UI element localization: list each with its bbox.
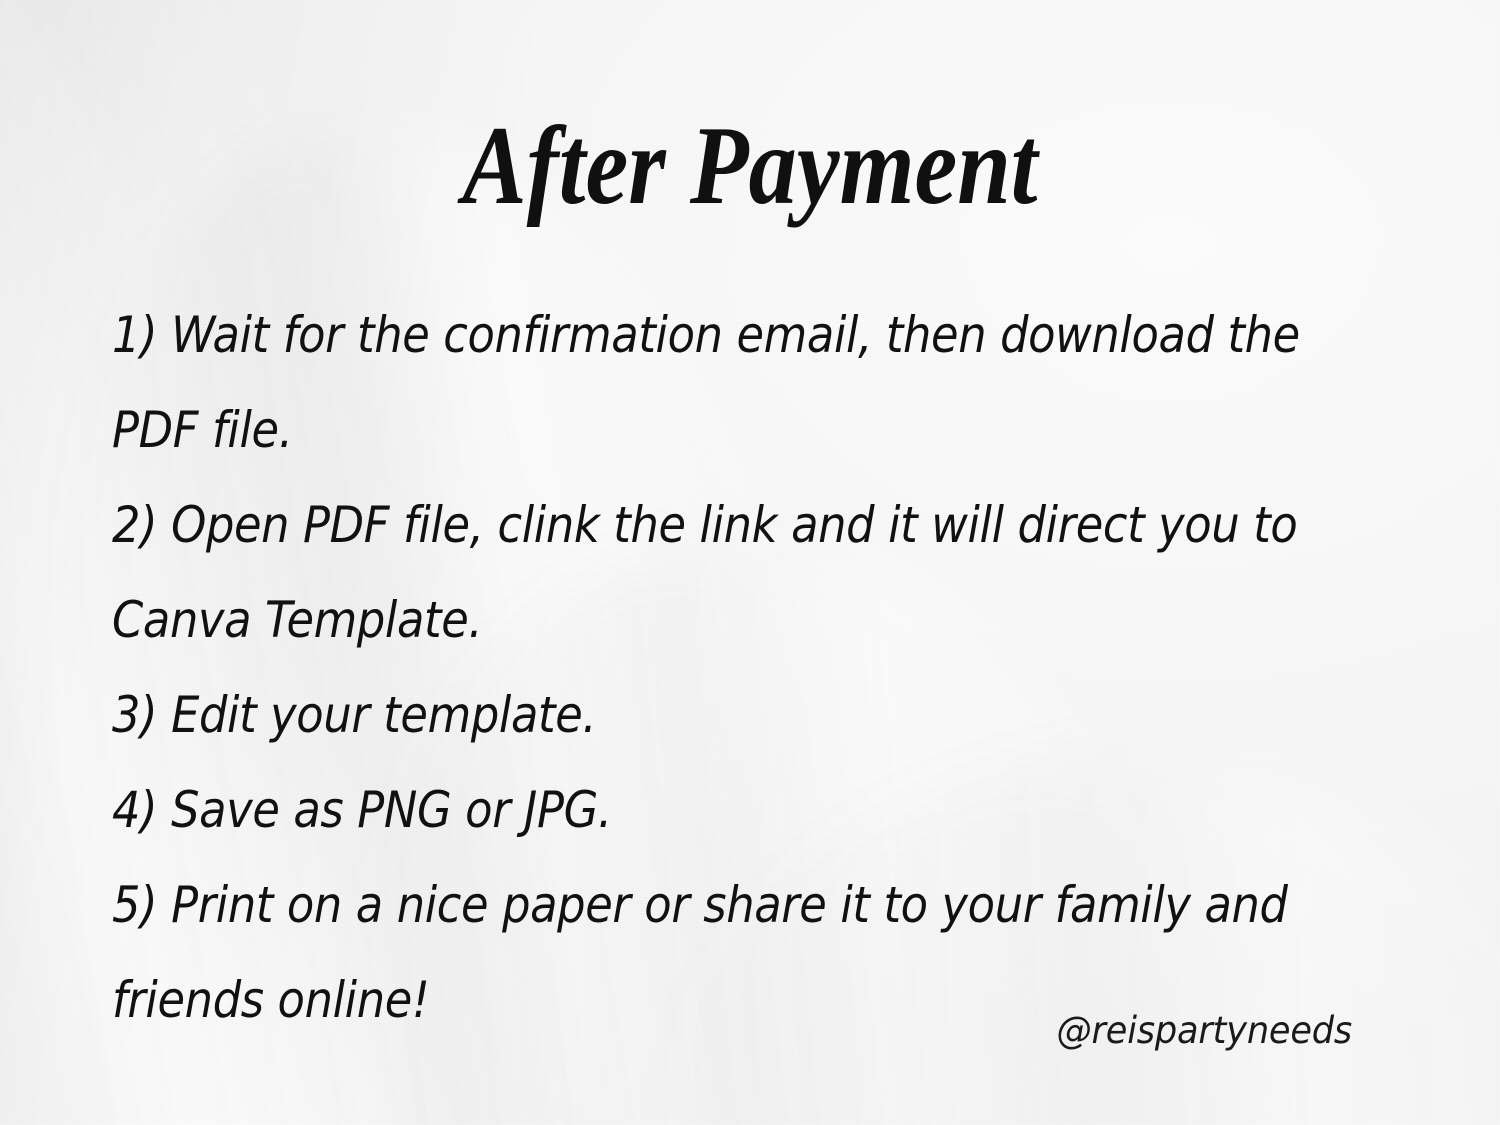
instruction-line: 4) Save as PNG or JPG. (112, 763, 1302, 858)
instruction-line: 3) Edit your template. (112, 668, 1302, 763)
card-content: After Payment 1) Wait for the confirmati… (0, 0, 1500, 1125)
instruction-list: 1) Wait for the confirmation email, then… (112, 288, 1442, 1048)
shop-handle-watermark: @reispartyneeds (1056, 1009, 1352, 1052)
instruction-line: 5) Print on a nice paper or share it to … (112, 858, 1302, 953)
instruction-line: Canva Template. (112, 573, 1302, 668)
instruction-line: PDF file. (112, 383, 1302, 478)
after-payment-card: After Payment 1) Wait for the confirmati… (0, 0, 1500, 1125)
instruction-line: 2) Open PDF file, clink the link and it … (112, 478, 1302, 573)
page-title: After Payment (105, 108, 1395, 226)
instruction-line: 1) Wait for the confirmation email, then… (112, 288, 1302, 383)
